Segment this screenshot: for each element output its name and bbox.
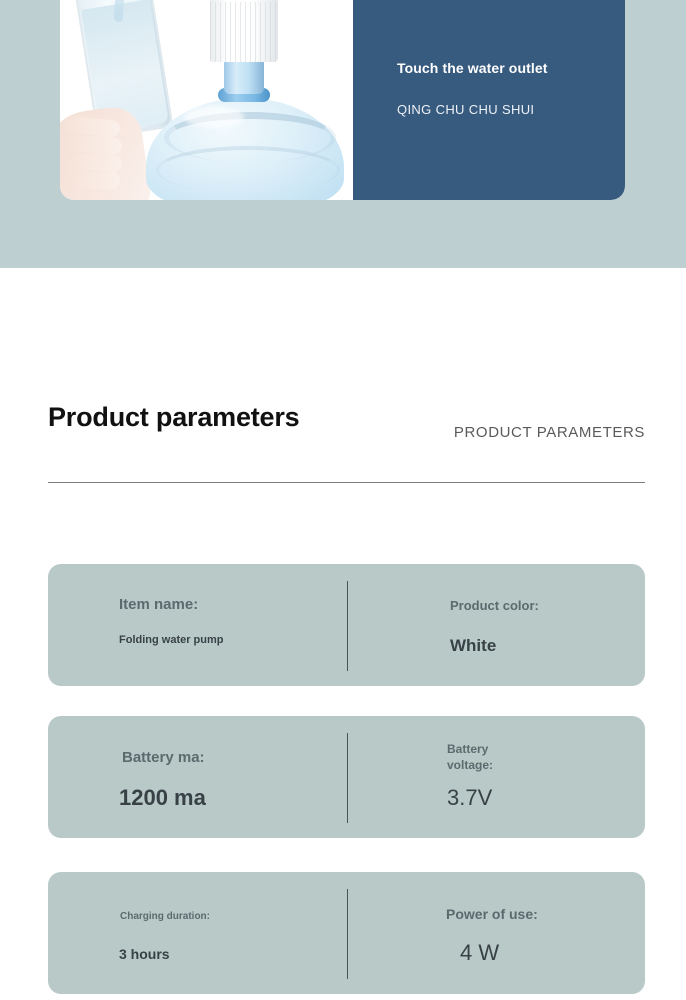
parameter-cell: Product color: White [348, 564, 645, 686]
banner-text-panel: Touch the water outlet QING CHU CHU SHUI [353, 0, 625, 200]
section-divider [48, 482, 645, 483]
parameter-label: Product color: [450, 598, 539, 613]
parameter-value: 3 hours [119, 946, 170, 962]
section-heading: Product parameters PRODUCT PARAMETERS [48, 400, 645, 484]
banner-headline: Touch the water outlet [397, 58, 587, 78]
page-title-english: PRODUCT PARAMETERS [385, 422, 645, 444]
parameter-value: 1200 ma [119, 785, 206, 811]
parameter-label: Item name: [119, 596, 198, 613]
parameter-cell: Charging duration: 3 hours [48, 872, 347, 994]
page-title: Product parameters [48, 400, 348, 435]
parameter-value: 3.7V [447, 785, 492, 811]
parameter-label: Power of use: [446, 906, 538, 922]
hero-banner: Touch the water outlet QING CHU CHU SHUI [0, 0, 686, 268]
banner-card: Touch the water outlet QING CHU CHU SHUI [60, 0, 625, 200]
product-photo [60, 0, 353, 200]
pump-neck-graphic [224, 60, 264, 94]
parameter-cell: Battery voltage: 3.7V [348, 716, 645, 838]
parameter-value: 4 W [460, 940, 499, 966]
parameter-value: Folding water pump [119, 634, 224, 646]
parameter-cell: Item name: Folding water pump [48, 564, 347, 686]
finger-graphic [66, 153, 123, 172]
finger-graphic [64, 172, 120, 189]
parameter-value: White [450, 636, 496, 656]
bottle-highlight-graphic [184, 106, 244, 128]
parameter-label: Battery voltage: [447, 741, 493, 773]
parameter-card: Battery ma: 1200 ma Battery voltage: 3.7… [48, 716, 645, 838]
parameter-card: Charging duration: 3 hours Power of use:… [48, 872, 645, 994]
parameter-label: Battery ma: [122, 749, 205, 766]
parameter-cell: Battery ma: 1200 ma [48, 716, 347, 838]
parameter-cell: Power of use: 4 W [348, 872, 645, 994]
parameter-card: Item name: Folding water pump Product co… [48, 564, 645, 686]
parameter-label: Charging duration: [120, 911, 210, 922]
pump-ribs-graphic [210, 2, 278, 62]
banner-subline: QING CHU CHU SHUI [397, 102, 534, 117]
bottle-ring-graphic [156, 146, 340, 194]
